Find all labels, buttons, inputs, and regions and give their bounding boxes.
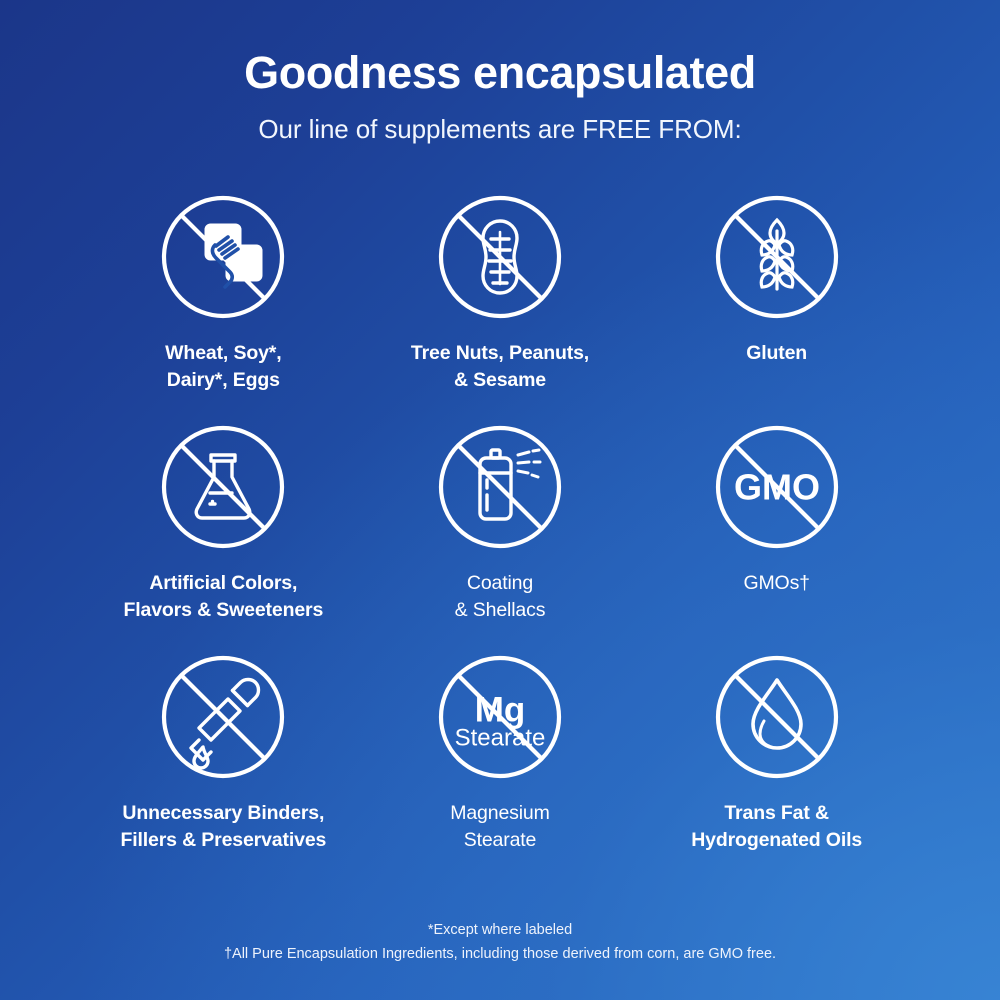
page-subtitle: Our line of supplements are FREE FROM:: [0, 114, 1000, 145]
footnote-dagger: †All Pure Encapsulation Ingredients, inc…: [0, 943, 1000, 966]
grid-item-label: Coating & Shellacs: [455, 570, 546, 622]
header: Goodness encapsulated Our line of supple…: [0, 0, 1000, 145]
page-title: Goodness encapsulated: [0, 48, 1000, 98]
no-gmo-icon: GMO: [707, 417, 847, 557]
grid-item-label: Gluten: [746, 340, 807, 366]
grid-item-label: Trans Fat & Hydrogenated Oils: [691, 800, 862, 852]
grid-item-label: Artificial Colors, Flavors & Sweeteners: [123, 570, 323, 622]
grid-item: Coating & Shellacs: [362, 417, 639, 647]
grid-item-label: Tree Nuts, Peanuts, & Sesame: [411, 340, 589, 392]
grid-item: Tree Nuts, Peanuts, & Sesame: [362, 187, 639, 417]
grid-item-label: Wheat, Soy*, Dairy*, Eggs: [165, 340, 281, 392]
free-from-grid: Wheat, Soy*, Dairy*, Eggs Tree Nuts, Pea…: [85, 187, 915, 877]
no-oil-droplet-icon: [707, 647, 847, 787]
grid-item: Gluten: [638, 187, 915, 417]
grid-item-label: Unnecessary Binders, Fillers & Preservat…: [120, 800, 326, 852]
grid-item: Trans Fat & Hydrogenated Oils: [638, 647, 915, 877]
grid-item-label: Magnesium Stearate: [450, 800, 549, 852]
no-magnesium-stearate-icon: Mg Stearate: [430, 647, 570, 787]
no-wheat-stalk-icon: [707, 187, 847, 327]
gmo-inner-text: GMO: [734, 467, 820, 508]
footnote-asterisk: *Except where labeled: [0, 919, 1000, 942]
footnotes: *Except where labeled †All Pure Encapsul…: [0, 919, 1000, 1000]
grid-item: Wheat, Soy*, Dairy*, Eggs: [85, 187, 362, 417]
no-cross-fork-icon: [153, 187, 293, 327]
no-flask-icon: [153, 417, 293, 557]
grid-item-label: GMOs†: [743, 570, 809, 596]
promo-page: Goodness encapsulated Our line of supple…: [0, 0, 1000, 1000]
no-dropper-icon: [153, 647, 293, 787]
grid-item: Artificial Colors, Flavors & Sweeteners: [85, 417, 362, 647]
grid-item: Unnecessary Binders, Fillers & Preservat…: [85, 647, 362, 877]
stearate-inner-text: Stearate: [455, 725, 546, 752]
grid-item: GMO GMOs†: [638, 417, 915, 647]
no-spray-can-icon: [430, 417, 570, 557]
grid-item: Mg Stearate Magnesium Stearate: [362, 647, 639, 877]
no-peanut-icon: [430, 187, 570, 327]
